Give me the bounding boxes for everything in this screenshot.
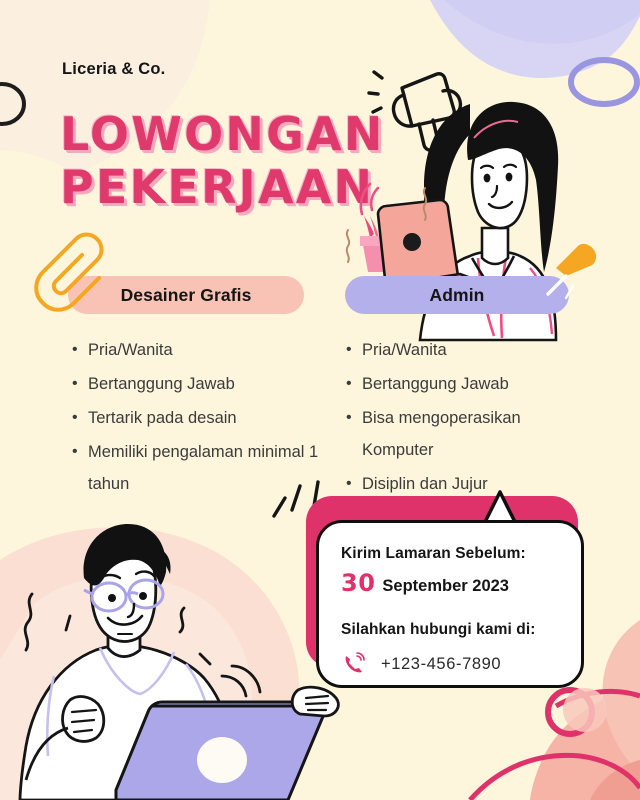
requirement-text: Bertanggung Jawab <box>362 368 596 400</box>
requirement-text: Pria/Wanita <box>362 334 596 366</box>
ringing-phone-icon <box>341 651 367 677</box>
headline-line-2: PEKERJAAN <box>60 161 380 214</box>
list-item: • Bertanggung Jawab <box>346 368 596 400</box>
job-vacancy-poster: Liceria & Co. LOWONGAN PEKERJAAN <box>0 0 640 800</box>
phone-number: +123-456-7890 <box>381 655 501 674</box>
bullet-icon: • <box>72 368 88 400</box>
ring-lavender-top-right <box>571 60 637 104</box>
bullet-icon: • <box>346 402 362 466</box>
position-pill-designer[interactable]: Desainer Grafis <box>68 276 304 314</box>
bubble-body: Kirim Lamaran Sebelum: 30 September 2023… <box>316 520 584 688</box>
requirements-designer: • Pria/Wanita • Bertanggung Jawab • Tert… <box>72 334 322 502</box>
list-item: • Bertanggung Jawab <box>72 368 322 400</box>
deadline-date: 30 September 2023 <box>341 568 559 601</box>
contact-label: Silahkan hubungi kami di: <box>341 617 559 643</box>
deadline-day: 30 <box>341 568 375 598</box>
bullet-icon: • <box>346 368 362 400</box>
brand-name: Liceria & Co. <box>62 60 165 79</box>
requirement-text: Pria/Wanita <box>88 334 322 366</box>
list-item: • Bisa mengoperasikan Komputer <box>346 402 596 466</box>
blob-right-upper <box>614 300 640 336</box>
deadline-label: Kirim Lamaran Sebelum: <box>341 541 559 567</box>
deadline-month-year: September 2023 <box>382 571 509 601</box>
position-pill-designer-label: Desainer Grafis <box>121 285 252 306</box>
contact-bubble: Kirim Lamaran Sebelum: 30 September 2023… <box>300 470 590 700</box>
phone-row[interactable]: +123-456-7890 <box>341 651 559 677</box>
bullet-icon: • <box>72 334 88 366</box>
blob-bottom-left-inner <box>0 576 252 800</box>
list-item: • Pria/Wanita <box>72 334 322 366</box>
bullet-icon: • <box>72 402 88 434</box>
requirement-text: Bisa mengoperasikan Komputer <box>362 402 596 466</box>
requirement-text: Bertanggung Jawab <box>88 368 322 400</box>
bullet-icon: • <box>346 334 362 366</box>
requirement-text: Memiliki pengalaman minimal 1 tahun <box>88 436 322 500</box>
list-item: • Tertarik pada desain <box>72 402 322 434</box>
requirement-text: Tertarik pada desain <box>88 402 322 434</box>
position-pill-admin[interactable]: Admin <box>345 276 569 314</box>
list-item: • Pria/Wanita <box>346 334 596 366</box>
position-pill-admin-label: Admin <box>430 285 485 306</box>
page-title: LOWONGAN PEKERJAAN <box>60 108 380 214</box>
list-item: • Memiliki pengalaman minimal 1 tahun <box>72 436 322 500</box>
bullet-icon: • <box>72 436 88 500</box>
headline-line-1: LOWONGAN <box>60 108 380 161</box>
